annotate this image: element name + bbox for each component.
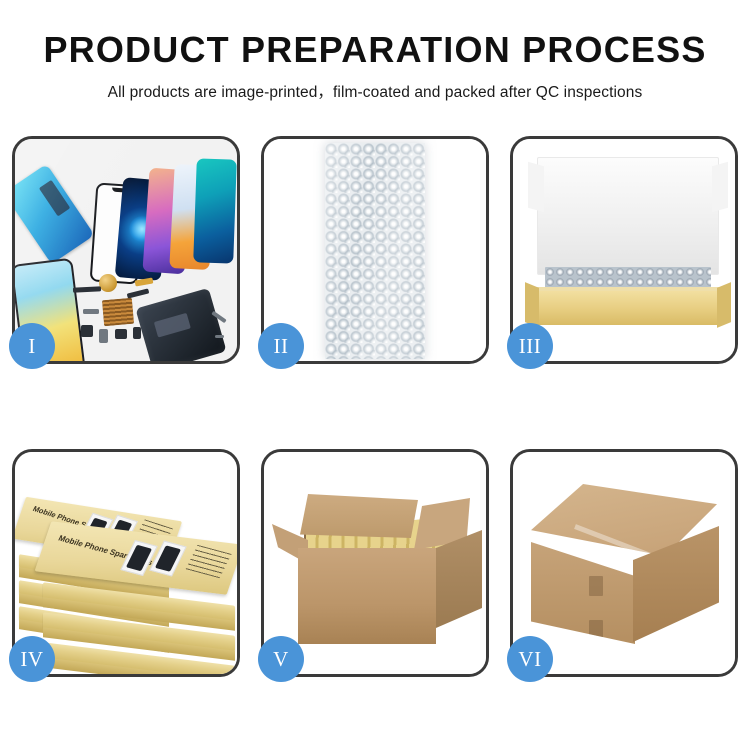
step-badge-6: VI (507, 636, 553, 682)
step-badge-1: I (9, 323, 55, 369)
battery-connector-icon (133, 327, 141, 339)
step-image-sealed-carton (513, 452, 735, 674)
sim-tray-icon (99, 329, 108, 343)
step-panel-1: I (12, 136, 240, 364)
screw-icon (215, 335, 224, 338)
step-panel-5: V (261, 449, 489, 677)
step-image-bubble-wrap (264, 139, 486, 361)
step-panel-3: III (510, 136, 738, 364)
step-image-stacked-boxes: Mobile Phone Spare Parts Mobile Phone Sp… (15, 452, 237, 674)
camera-module-icon (81, 325, 93, 337)
flex-cable-icon (73, 286, 101, 292)
step-image-inner-box (513, 139, 735, 361)
process-steps-grid: I II III (12, 136, 738, 677)
phone-screen-blue-icon (15, 164, 95, 264)
speaker-icon (115, 329, 127, 339)
step-image-products (15, 139, 237, 361)
header: PRODUCT PREPARATION PROCESS All products… (0, 0, 750, 102)
step-image-carton-filling (264, 452, 486, 674)
carton-tape-mark-1 (589, 576, 603, 596)
step-badge-4: IV (9, 636, 55, 682)
connector-grid-icon (102, 298, 134, 327)
box-stack: Mobile Phone Spare Parts Mobile Phone Sp… (19, 474, 235, 664)
phone-logic-board-icon (135, 288, 226, 361)
step-panel-2: II (261, 136, 489, 364)
antenna-cable-icon (127, 288, 150, 298)
product-preparation-infographic: PRODUCT PREPARATION PROCESS All products… (0, 0, 750, 750)
carton-front-face (298, 548, 436, 644)
step-badge-5: V (258, 636, 304, 682)
box-lid-icon (537, 157, 719, 275)
vibration-motor-icon (99, 274, 117, 292)
plastic-sheen (325, 143, 425, 359)
step-badge-3: III (507, 323, 553, 369)
step-panel-4: Mobile Phone Spare Parts Mobile Phone Sp… (12, 449, 240, 677)
box-spec-lines-front (186, 545, 232, 578)
carton-back-flap-icon (300, 494, 418, 538)
small-chip-icon (83, 309, 99, 314)
page-subtitle: All products are image-printed，film-coat… (0, 80, 750, 102)
kraft-box-front-icon (535, 291, 721, 325)
page-title: PRODUCT PREPARATION PROCESS (0, 30, 750, 70)
sealed-carton-left-face (531, 542, 635, 644)
phone-screen-teal-icon (193, 158, 237, 263)
bubble-wrap-sheet-icon (325, 143, 425, 359)
step-panel-6: VI (510, 449, 738, 677)
step-badge-2: II (258, 323, 304, 369)
carton-tape-mark-2 (589, 620, 603, 640)
